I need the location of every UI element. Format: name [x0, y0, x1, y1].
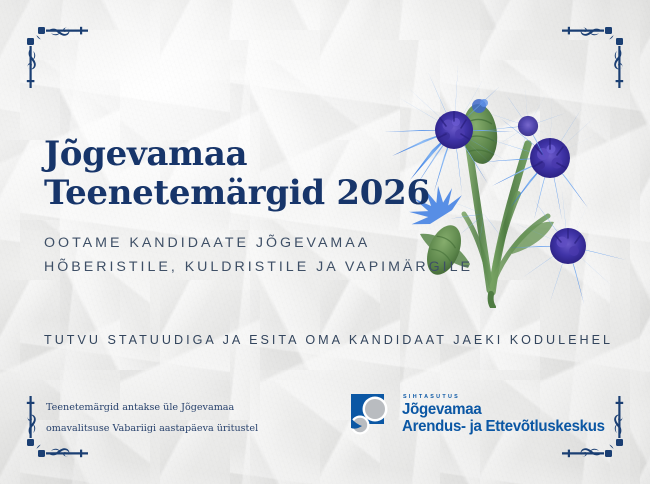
logo-line-2: Arendus- ja Ettevõtluskeskus: [402, 419, 605, 435]
corner-ornament-icon-top-left: [10, 10, 96, 96]
logo-line-1: Jõgevamaa: [402, 402, 605, 418]
jaek-logo-text: SIHTASUTUS Jõgevamaa Arendus- ja Ettevõt…: [402, 395, 618, 435]
cornflower-right: [482, 96, 612, 220]
poster-call-to-action: TUTVU STATUUDIGA JA ESITA OMA KANDIDAAT …: [44, 333, 624, 347]
poster-canvas: Jõgevamaa Teenetemärgid 2026 OOTAME KAND…: [0, 0, 650, 484]
logo-kicker: SIHTASUTUS: [403, 395, 618, 400]
jaek-logo-mark-icon: [349, 392, 395, 438]
jaek-logo: SIHTASUTUS Jõgevamaa Arendus- ja Ettevõt…: [349, 392, 618, 438]
page-title: Jõgevamaa Teenetemärgid 2026: [44, 135, 444, 214]
poster-footnote: Teenetemärgid antakse üle Jõgevamaa omav…: [46, 398, 316, 439]
poster-subtitle: OOTAME KANDIDAATE JÕGEVAMAA HÕBERISTILE,…: [44, 231, 564, 280]
